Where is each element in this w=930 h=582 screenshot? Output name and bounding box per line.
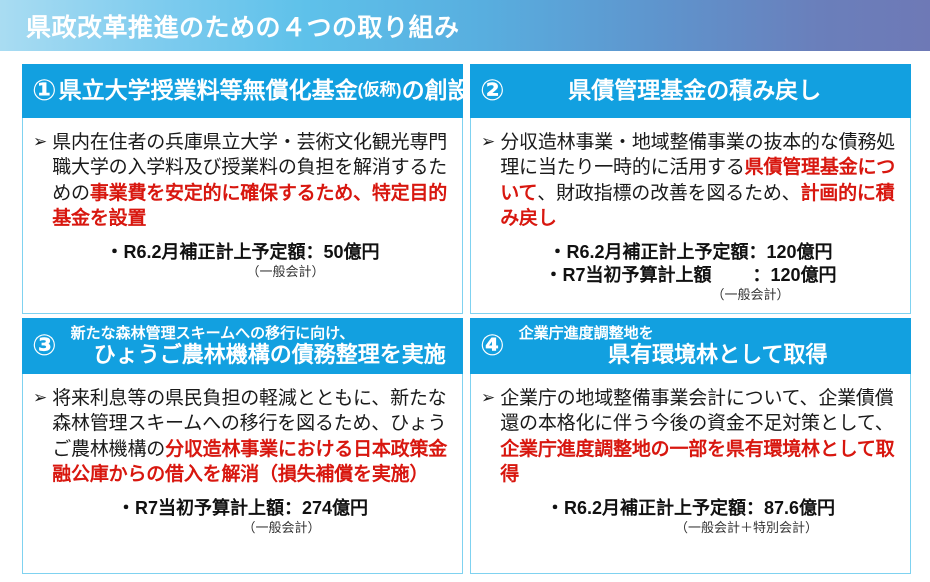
panel-3-title-stack: 新たな森林管理スキームへの移行に向け、 ひょうご農林機構の債務整理を実施	[59, 325, 457, 368]
panel-1: ① 県立大学授業料等無償化基金 (仮称) の創設 ➢ 県内在住者の兵庫県立大学・…	[22, 64, 463, 314]
panel-4-seg-1: 企業庁進度調整地の一部を県有環境林として取得	[500, 439, 894, 485]
panel-1-budget-note: （一般会計）	[33, 264, 452, 280]
panel-1-title-note: (仮称)	[358, 82, 402, 99]
slide-root: 県政改革推進のための４つの取り組み ① 県立大学授業料等無償化基金 (仮称) の…	[0, 0, 930, 582]
panel-2-title: 県債管理基金の積み戻し	[507, 78, 905, 103]
panel-1-bullet-text: 県内在住者の兵庫県立大学・芸術文化観光専門職大学の入学料及び授業料の負担を解消す…	[52, 130, 452, 231]
panel-3-body: ➢ 将来利息等の県民負担の軽減とともに、新たな森林管理スキームへの移行を図るため…	[22, 374, 463, 574]
bullet-arrow-icon: ➢	[481, 386, 500, 411]
panel-4-body: ➢ 企業庁の地域整備事業会計について、企業債償還の本格化に伴う今後の資金不足対策…	[470, 374, 911, 574]
bullet-arrow-icon: ➢	[33, 386, 52, 411]
bullet-arrow-icon: ➢	[481, 130, 500, 155]
panel-4-budget: ・R6.2月補正計上予定額：87.6億円 （一般会計＋特別会計）	[481, 497, 900, 536]
panel-2-number: ②	[480, 77, 507, 106]
panel-3-title-big: ひょうご農林機構の債務整理を実施	[65, 342, 457, 367]
panel-1-title-tail: の創設	[402, 78, 471, 103]
panel-4-seg-0: 企業庁の地域整備事業会計について、企業債償還の本格化に伴う今後の資金不足対策とし…	[500, 388, 893, 434]
panel-2-budget-note: （一般会計）	[481, 287, 900, 303]
panel-1-body: ➢ 県内在住者の兵庫県立大学・芸術文化観光専門職大学の入学料及び授業料の負担を解…	[22, 118, 463, 314]
panel-3-budget-line-0: ・R7当初予算計上額：274億円	[33, 497, 452, 520]
panel-1-title: 県立大学授業料等無償化基金	[59, 78, 358, 103]
panel-4-title-small: 企業庁進度調整地を	[513, 325, 905, 342]
panel-3-budget: ・R7当初予算計上額：274億円 （一般会計）	[33, 497, 452, 536]
panel-4-title-big: 県有環境林として取得	[513, 342, 905, 367]
panel-2-budget-line-0: ・R6.2月補正計上予定額：120億円	[481, 241, 900, 264]
panel-2-seg-2: 、財政指標の改善を図るため、	[537, 183, 800, 204]
panel-3-budget-note: （一般会計）	[33, 520, 452, 536]
panel-2-bullet-text: 分収造林事業・地域整備事業の抜本的な債務処理に当たり一時的に活用する県債管理基金…	[500, 130, 900, 231]
panel-4-budget-line-0: ・R6.2月補正計上予定額：87.6億円	[481, 497, 900, 520]
page-title: 県政改革推進のための４つの取り組み	[26, 8, 460, 44]
panel-3-header: ③ 新たな森林管理スキームへの移行に向け、 ひょうご農林機構の債務整理を実施	[22, 318, 463, 374]
panel-3-number: ③	[32, 332, 59, 361]
panel-3: ③ 新たな森林管理スキームへの移行に向け、 ひょうご農林機構の債務整理を実施 ➢…	[22, 318, 463, 574]
panel-3-bullet-text: 将来利息等の県民負担の軽減とともに、新たな森林管理スキームへの移行を図るため、ひ…	[52, 386, 452, 487]
panel-4: ④ 企業庁進度調整地を 県有環境林として取得 ➢ 企業庁の地域整備事業会計につい…	[470, 318, 911, 574]
bullet-arrow-icon: ➢	[33, 130, 52, 155]
panel-4-bullet-text: 企業庁の地域整備事業会計について、企業債償還の本格化に伴う今後の資金不足対策とし…	[500, 386, 900, 487]
panel-3-title-small: 新たな森林管理スキームへの移行に向け、	[65, 325, 457, 342]
panel-4-bullet: ➢ 企業庁の地域整備事業会計について、企業債償還の本格化に伴う今後の資金不足対策…	[481, 386, 900, 487]
panel-2-header: ② 県債管理基金の積み戻し	[470, 64, 911, 118]
slide-title-bar: 県政改革推進のための４つの取り組み	[0, 0, 930, 51]
panel-2-budget-line-1: ・R7当初予算計上額 ：120億円	[481, 264, 900, 287]
panel-4-header: ④ 企業庁進度調整地を 県有環境林として取得	[470, 318, 911, 374]
panel-4-number: ④	[480, 332, 507, 361]
panel-1-number: ①	[32, 77, 59, 106]
panel-1-budget: ・R6.2月補正計上予定額：50億円 （一般会計）	[33, 241, 452, 280]
panel-1-header: ① 県立大学授業料等無償化基金 (仮称) の創設	[22, 64, 463, 118]
panel-3-bullet: ➢ 将来利息等の県民負担の軽減とともに、新たな森林管理スキームへの移行を図るため…	[33, 386, 452, 487]
panel-2-budget: ・R6.2月補正計上予定額：120億円 ・R7当初予算計上額 ：120億円 （一…	[481, 241, 900, 303]
panel-1-seg-1: 事業費を安定的に確保するため、特定目的基金を設置	[52, 183, 447, 229]
panel-2-bullet: ➢ 分収造林事業・地域整備事業の抜本的な債務処理に当たり一時的に活用する県債管理…	[481, 130, 900, 231]
panel-4-title-stack: 企業庁進度調整地を 県有環境林として取得	[507, 325, 905, 368]
panel-2-body: ➢ 分収造林事業・地域整備事業の抜本的な債務処理に当たり一時的に活用する県債管理…	[470, 118, 911, 314]
panel-1-bullet: ➢ 県内在住者の兵庫県立大学・芸術文化観光専門職大学の入学料及び授業料の負担を解…	[33, 130, 452, 231]
panel-2: ② 県債管理基金の積み戻し ➢ 分収造林事業・地域整備事業の抜本的な債務処理に当…	[470, 64, 911, 314]
panel-4-budget-note: （一般会計＋特別会計）	[481, 520, 900, 536]
panel-1-budget-line-0: ・R6.2月補正計上予定額：50億円	[33, 241, 452, 264]
